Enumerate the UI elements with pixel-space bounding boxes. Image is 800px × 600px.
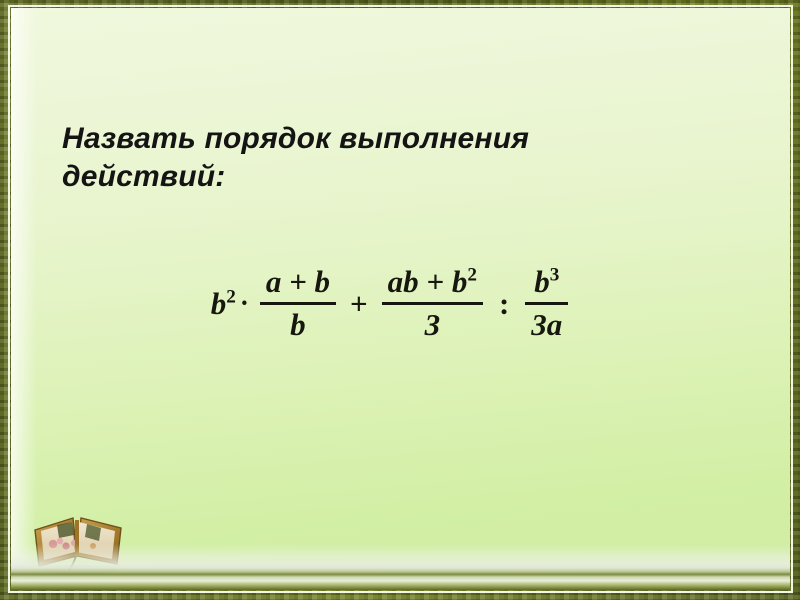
math-term-b-squared: b2 <box>211 288 236 319</box>
math-fraction-3-denominator: 3a <box>525 308 568 341</box>
math-fraction-2-denominator: 3 <box>419 308 447 341</box>
math-fraction-1-denominator: b <box>284 308 312 341</box>
title-line-1: Назвать порядок выполнения <box>62 120 682 158</box>
math-operator-divide: : <box>486 288 522 319</box>
math-fraction-2-numerator: ab + b2 <box>382 265 483 298</box>
math-expression-row: b2 · a + b b + ab + b2 3 <box>211 265 572 341</box>
slide-content-area: Назвать порядок выполнения действий: b2 … <box>11 8 790 590</box>
presentation-slide: Назвать порядок выполнения действий: b2 … <box>0 0 800 600</box>
page-sheen-gradient <box>11 8 37 590</box>
math-fraction-2-num-right-exponent: 2 <box>467 265 477 286</box>
math-operator-plus: + <box>339 288 379 319</box>
math-fraction-1-num-left: a <box>266 264 282 299</box>
math-fraction-2-num-op: + <box>426 264 444 299</box>
math-fraction-3-bar <box>525 302 568 305</box>
open-book-icon <box>29 508 129 578</box>
title-line-2: действий: <box>62 158 682 196</box>
math-fraction-2-bar <box>382 302 483 305</box>
math-fraction-2: ab + b2 3 <box>379 265 486 341</box>
math-fraction-1: a + b b <box>257 265 339 341</box>
page-title: Назвать порядок выполнения действий: <box>62 120 682 196</box>
math-operator-multiply: · <box>236 290 257 317</box>
math-fraction-1-num-op: + <box>289 264 307 299</box>
math-fraction-3-numerator: b3 <box>528 265 565 298</box>
math-fraction-3-num-exponent: 3 <box>550 265 560 286</box>
math-fraction-1-numerator: a + b <box>260 265 336 298</box>
math-fraction-1-num-right: b <box>315 264 331 299</box>
math-fraction-3: b3 3a <box>522 265 571 341</box>
math-term-exponent: 2 <box>226 286 236 307</box>
math-term-base: b <box>211 286 227 321</box>
math-fraction-2-num-right: b <box>452 264 468 299</box>
math-fraction-2-num-left: ab <box>388 264 419 299</box>
math-fraction-1-bar <box>260 302 336 305</box>
math-fraction-3-num-base: b <box>534 264 550 299</box>
math-expression: b2 · a + b b + ab + b2 3 <box>71 248 711 358</box>
